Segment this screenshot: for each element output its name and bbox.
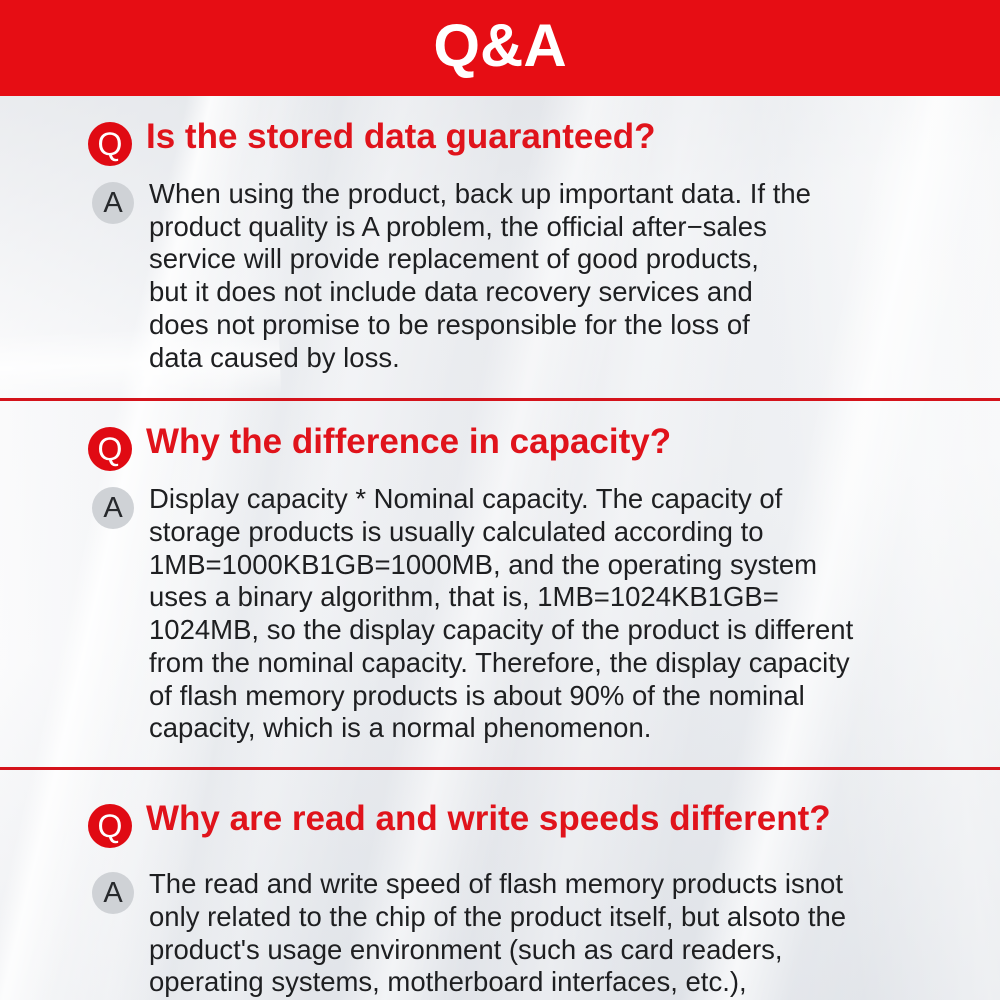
- page-title: Q&A: [433, 16, 566, 76]
- qa-page: Q&A Q Is the stored data guaranteed? A W…: [0, 0, 1000, 1000]
- faq-item: Q Why are read and write speeds differen…: [0, 770, 1000, 1000]
- answer-badge-icon: A: [92, 182, 134, 224]
- faq-item: Q Is the stored data guaranteed? A When …: [0, 96, 1000, 374]
- question-badge-icon: Q: [88, 804, 132, 848]
- faq-item: Q Why the difference in capacity? A Disp…: [0, 401, 1000, 745]
- answer-badge-icon: A: [92, 872, 134, 914]
- faq-question-row: Q Why the difference in capacity?: [0, 423, 1000, 471]
- faq-answer-row: A Display capacity * Nominal capacity. T…: [0, 483, 1000, 745]
- answer-badge-icon: A: [92, 487, 134, 529]
- page-header-banner: Q&A: [0, 0, 1000, 96]
- faq-answer-row: A The read and write speed of flash memo…: [0, 868, 1000, 1000]
- faq-answer-row: A When using the product, back up import…: [0, 178, 1000, 374]
- question-badge-icon: Q: [88, 427, 132, 471]
- faq-answer-text: When using the product, back up importan…: [149, 178, 811, 374]
- question-badge-icon: Q: [88, 122, 132, 166]
- faq-question-text: Is the stored data guaranteed?: [146, 118, 656, 157]
- faq-question-text: Why the difference in capacity?: [146, 423, 671, 462]
- faq-question-row: Q Is the stored data guaranteed?: [0, 118, 1000, 166]
- faq-answer-text: The read and write speed of flash memory…: [149, 868, 846, 1000]
- faq-answer-text: Display capacity * Nominal capacity. The…: [149, 483, 853, 745]
- faq-list: Q Is the stored data guaranteed? A When …: [0, 96, 1000, 1000]
- faq-question-row: Q Why are read and write speeds differen…: [0, 800, 1000, 848]
- faq-question-text: Why are read and write speeds different?: [146, 800, 831, 839]
